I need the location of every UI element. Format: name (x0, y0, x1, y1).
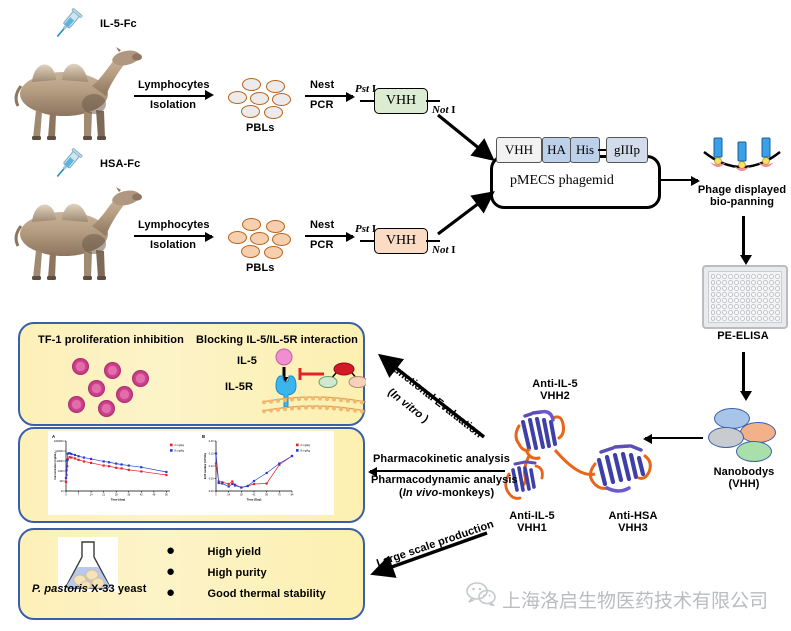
pcr-label-bottom: PCR (310, 239, 334, 251)
pbls-label-top: PBLs (246, 122, 275, 134)
elisa-plate-wells (708, 271, 782, 323)
svg-text:56: 56 (165, 494, 168, 497)
elisa-to-nanobody-arrow (742, 352, 745, 392)
pbl-cluster-top (228, 78, 298, 120)
svg-text:0: 0 (65, 494, 67, 497)
tf1-cell (72, 358, 89, 375)
gene-line-left-top (360, 100, 374, 102)
phagemid-segment-vhh: VHH (496, 137, 542, 163)
nest-pcr-arrow-top (305, 95, 353, 97)
svg-text:100: 100 (59, 480, 64, 483)
vhh-gene-box-top: VHH (374, 88, 428, 114)
phagemid-segment-his-label: His (576, 142, 594, 158)
nanobody-blob-group (706, 408, 782, 460)
nanobodys-label-line1: Nanobodys (700, 466, 788, 478)
pmecs-phagemid-label: pMECS phagemid (510, 173, 614, 189)
production-bullet-3: ● Good thermal stability (166, 584, 326, 602)
svg-text:0.05: 0.05 (209, 478, 214, 481)
svg-text:0: 0 (215, 494, 217, 497)
pbl-cluster-bottom (228, 218, 298, 260)
gene-line-right-top (426, 100, 440, 102)
tf1-cell (98, 400, 115, 417)
svg-text:49: 49 (152, 494, 155, 497)
tf1-cell (116, 386, 133, 403)
pst-site-label-top: Pst I (355, 83, 376, 95)
bullet-dot-icon: ● (166, 563, 175, 580)
svg-text:10: 10 (61, 490, 64, 493)
blocking-interaction-title: Blocking IL-5/IL-5R interaction (196, 334, 358, 346)
lymphocytes-label-top-1: Lymphocytes (138, 79, 210, 91)
tf1-proliferation-title: TF-1 proliferation inhibition (38, 334, 184, 346)
svg-text:10000: 10000 (57, 460, 65, 463)
structure-label-vhh3-line1: Anti-HSA (588, 510, 678, 522)
pcr-label-top: PCR (310, 99, 334, 111)
camel-image-bottom (6, 178, 146, 283)
svg-text:2 mg/kg: 2 mg/kg (300, 443, 310, 447)
production-bullet-3-label: Good thermal stability (208, 588, 326, 600)
nest-label-top: Nest (310, 79, 334, 91)
yeast-species-italic: P. pastoris (32, 583, 88, 595)
production-bullet-2: ● High purity (166, 563, 267, 581)
not-site-label-bottom: Not I (432, 244, 456, 256)
svg-text:Time (day): Time (day) (111, 498, 125, 502)
svg-text:0.20: 0.20 (209, 440, 214, 443)
bio-panning-icon (700, 136, 784, 178)
svg-text:70: 70 (278, 494, 281, 497)
svg-text:56: 56 (265, 494, 268, 497)
tf1-cell (88, 380, 105, 397)
vhh-gene-label-top: VHH (386, 93, 416, 109)
gene-line-left-bottom (360, 240, 374, 242)
il5-il5r-blocking-cartoon (262, 348, 366, 418)
phagemid-segment-his: His (570, 137, 600, 163)
production-bullet-1-label: High yield (208, 546, 262, 558)
structure-label-vhh2-line1: Anti-IL-5 (500, 378, 610, 390)
isolation-label-bottom: Isolation (150, 239, 196, 251)
antigen-label-hsa: HSA-Fc (100, 158, 140, 170)
svg-text:28: 28 (240, 494, 243, 497)
pk-pd-charts-svg: A101001000100001000001000000071421283542… (48, 431, 334, 515)
trivalent-nanobody-structure (495, 400, 665, 515)
invivo-italic: In vivo (403, 487, 439, 499)
nest-label-bottom: Nest (310, 219, 334, 231)
svg-text:8 mg/kg: 8 mg/kg (300, 449, 310, 453)
syringe-icon-hsa (50, 148, 84, 182)
structure-label-vhh1-line2: VHH1 (487, 522, 577, 534)
phagemid-linker (598, 149, 606, 151)
arrow-rule-top (134, 95, 209, 97)
pd-analysis-label: Pharmacodynamic analysis (371, 474, 518, 486)
phagemid-segment-ha-label: HA (547, 142, 566, 158)
bullet-dot-icon: ● (166, 584, 175, 601)
structure-label-vhh3-line2: VHH3 (588, 522, 678, 534)
svg-text:14: 14 (227, 494, 230, 497)
gene-line-right-bottom (426, 240, 440, 242)
lymphocyte-arrow-bottom (134, 235, 212, 237)
production-bullet-2-label: High purity (208, 567, 267, 579)
yeast-strain-rest: X-33 yeast (88, 583, 147, 595)
nanobodys-label-line2: (VHH) (700, 478, 788, 490)
vhh-gene-label-bottom: VHH (386, 233, 416, 249)
isolation-label-top: Isolation (150, 99, 196, 111)
vhh-gene-box-bottom: VHH (374, 228, 428, 254)
svg-text:0.00: 0.00 (209, 490, 214, 493)
svg-text:B: B (202, 434, 205, 439)
phagemid-to-panning-arrow (660, 179, 698, 181)
svg-text:0.10: 0.10 (209, 465, 214, 468)
svg-text:28: 28 (115, 494, 118, 497)
svg-text:1000000: 1000000 (54, 440, 64, 443)
il5-label: IL-5 (237, 355, 257, 367)
nest-pcr-arrow-bottom (305, 235, 353, 237)
production-bullet-1: ● High yield (166, 542, 261, 560)
phagemid-segment-ha: HA (542, 137, 571, 163)
svg-text:EOS number (10^9/L): EOS number (10^9/L) (203, 453, 207, 479)
tf1-cell (68, 396, 85, 413)
svg-text:2 mg/kg: 2 mg/kg (174, 443, 184, 447)
svg-text:42: 42 (253, 494, 256, 497)
yeast-strain-label: P. pastoris X-33 yeast (32, 583, 147, 595)
syringe-icon-il5 (50, 8, 84, 42)
svg-text:0.15: 0.15 (209, 453, 214, 456)
lymphocytes-label-bottom: Lymphocytes (138, 219, 210, 231)
bullet-dot-icon: ● (166, 542, 175, 559)
invivo-rest: -monkeys) (438, 487, 494, 499)
panning-label-line1: Phage displayed (692, 184, 791, 196)
svg-text:21: 21 (102, 494, 105, 497)
pst-site-label-bottom: Pst I (355, 223, 376, 235)
svg-text:Concentration (ng/mL): Concentration (ng/mL) (53, 452, 57, 480)
tf1-cell (132, 370, 149, 387)
tf1-cell (104, 362, 121, 379)
pd-analysis-sublabel: (In vivo-monkeys) (399, 487, 494, 499)
svg-text:14: 14 (90, 494, 93, 497)
pk-analysis-label: Pharmacokinetic analysis (373, 453, 510, 465)
svg-text:42: 42 (140, 494, 143, 497)
elisa-plate (702, 265, 788, 329)
pe-elisa-label: PE-ELISA (700, 330, 786, 342)
svg-text:1000: 1000 (58, 470, 64, 473)
nanobody-blob-2 (740, 422, 776, 443)
camel-image-top (6, 38, 146, 143)
nanobody-blob-4 (736, 441, 772, 462)
pbls-label-bottom: PBLs (246, 262, 275, 274)
svg-text:7: 7 (78, 494, 80, 497)
svg-text:35: 35 (127, 494, 130, 497)
svg-text:84: 84 (291, 494, 294, 497)
company-watermark-text: 上海洛启生物医药技术有限公司 (502, 586, 768, 613)
antigen-label-il5: IL-5-Fc (100, 18, 137, 30)
svg-text:A: A (52, 434, 55, 439)
svg-text:Time (Day): Time (Day) (247, 498, 262, 502)
svg-text:8 mg/kg: 8 mg/kg (174, 449, 184, 453)
panning-to-elisa-arrow (742, 216, 745, 256)
phagemid-segment-giiip-label: gIIIp (614, 142, 640, 158)
phagemid-segment-giiip: gIIIp (606, 137, 648, 163)
il5r-label: IL-5R (225, 381, 253, 393)
structure-label-vhh1-line1: Anti-IL-5 (487, 510, 577, 522)
wechat-icon (466, 582, 496, 606)
pk-pd-arrow (370, 470, 505, 472)
tf1-cell-cluster (52, 356, 172, 414)
panning-label-line2: bio-panning (692, 196, 791, 208)
phagemid-segment-vhh-label: VHH (505, 142, 533, 158)
